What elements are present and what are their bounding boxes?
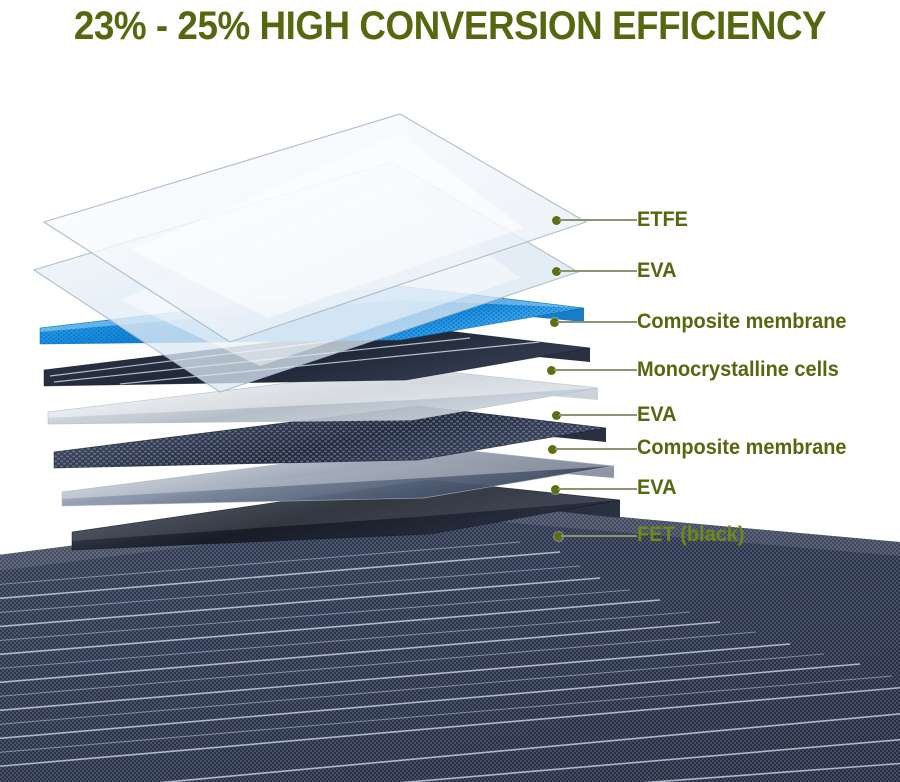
callout-label-eva-3: EVA: [637, 477, 677, 498]
callout-leader-line: [557, 321, 637, 323]
callout-label-fet-black: FET (black): [637, 524, 745, 545]
page-title: 23% - 25% HIGH CONVERSION EFFICIENCY: [36, 0, 864, 52]
callout-label-composite-membrane-1: Composite membrane: [637, 311, 847, 332]
callout-dot-icon: [550, 318, 559, 327]
callout-leader-line: [561, 535, 637, 537]
callout-label-etfe-top: ETFE: [637, 209, 688, 230]
callout-dot-icon: [554, 532, 563, 541]
solar-panel-layer-diagram: 23% - 25% HIGH CONVERSION EFFICIENCY ETF…: [0, 0, 900, 782]
exploded-layer-illustration: [0, 0, 900, 782]
callout-label-composite-membrane-2: Composite membrane: [637, 437, 847, 458]
callout-dot-icon: [552, 267, 561, 276]
callout-leader-line: [558, 488, 637, 490]
callout-dot-icon: [552, 411, 561, 420]
callout-dot-icon: [551, 485, 560, 494]
callout-dot-icon: [548, 445, 557, 454]
callout-leader-line: [559, 414, 637, 416]
callout-leader-line: [555, 448, 637, 450]
callout-label-eva-1: EVA: [637, 260, 677, 281]
callout-leader-line: [559, 219, 637, 221]
callout-leader-line: [554, 369, 637, 371]
callout-dot-icon: [552, 216, 561, 225]
callout-dot-icon: [547, 366, 556, 375]
callout-leader-line: [559, 270, 637, 272]
callout-label-eva-2: EVA: [637, 404, 677, 425]
callout-label-monocrystalline-cells: Monocrystalline cells: [637, 359, 839, 380]
